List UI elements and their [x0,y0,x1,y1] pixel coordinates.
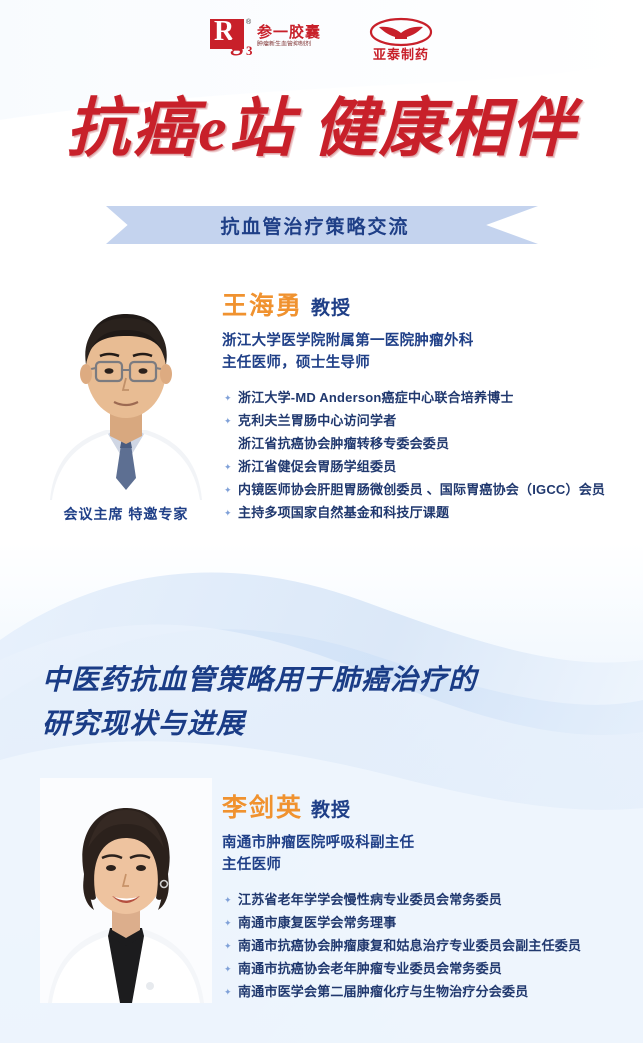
bullet-star-icon: ✦ [224,395,230,401]
bullet-star-icon: ✦ [224,989,230,995]
list-item: ✦浙江大学-MD Anderson癌症中心联合培养博士 [222,386,637,409]
list-item: ✦南通市抗癌协会老年肿瘤专业委员会常务委员 [222,957,637,980]
list-item: ✦江苏省老年学学会慢性病专业委员会常务委员 [222,888,637,911]
bullet-star-icon: ✦ [224,464,230,470]
credential-text: 主持多项国家自然基金和科技厅课题 [238,505,449,520]
speaker-2-affiliation-line-2: 主任医师 [222,854,637,876]
list-item: ✦南通市医学会第二届肿瘤化疗与生物治疗分会委员 [222,980,637,1003]
credential-text: 南通市抗癌协会老年肿瘤专业委员会常务委员 [238,961,502,976]
bullet-star-icon: ✦ [224,487,230,493]
speaker-2-name: 李剑英 [222,788,303,824]
speaker-2-credentials: ✦江苏省老年学学会慢性病专业委员会常务委员 ✦南通市康复医学会常务理事 ✦南通市… [222,888,637,1003]
poster-main-title: 抗癌e站 健康相伴 [0,88,643,170]
credential-text: 浙江省抗癌协会肿瘤转移专委会委员 [238,436,449,451]
speaker-2-info: 李剑英 教授 南通市肿瘤医院呼吸科副主任 主任医师 ✦江苏省老年学学会慢性病专业… [222,788,637,1019]
speaker-1-role-label: 会议主席 特邀专家 [40,504,212,524]
speaker-block-2: 李剑英 教授 南通市肿瘤医院呼吸科副主任 主任医师 ✦江苏省老年学学会慢性病专业… [0,778,643,1018]
speaker-1-academic-title: 教授 [311,293,351,320]
credential-text: 南通市医学会第二届肿瘤化疗与生物治疗分会委员 [238,984,528,999]
list-item: ✦内镜医师协会肝胆胃肠微创委员 、国际胃癌协会（IGCC）会员 [222,478,637,501]
list-item: ✦南通市抗癌协会肿瘤康复和姑息治疗专业委员会副主任委员 [222,934,637,957]
speaker-2-portrait [40,778,212,1003]
rg3-letter-g: g [230,29,243,55]
speaker-block-1: 会议主席 特邀专家 王海勇 教授 浙江大学医学院附属第一医院肿瘤外科 主任医师，… [0,278,643,538]
rg3-subscript-3: 3 [246,43,253,59]
speaker-1-portrait [40,278,212,500]
list-item: ✦克利夫兰胃肠中心访问学者 [222,409,637,432]
list-item: 浙江省抗癌协会肿瘤转移专委会委员 [222,432,637,455]
bullet-star-icon: ✦ [224,418,230,424]
logo-canyi-capsule: R g 3 ® 参一胶囊 肿瘤新生血管抑制剂 [210,19,321,59]
list-item: ✦主持多项国家自然基金和科技厅课题 [222,501,637,524]
bullet-star-icon: ✦ [224,897,230,903]
speaker-2-affiliation-line-1: 南通市肿瘤医院呼吸科副主任 [222,832,637,854]
section-heading-line-1: 中医药抗血管策略用于肺癌治疗的 [42,658,602,702]
bullet-star-icon: ✦ [224,920,230,926]
speaker-2-name-line: 李剑英 教授 [222,788,637,824]
poster-canvas: R g 3 ® 参一胶囊 肿瘤新生血管抑制剂 亚泰制药 抗癌e站 健康相伴 抗血… [0,0,643,1043]
female-doctor-portrait-illustration [40,778,212,1003]
speaker-1-name-line: 王海勇 教授 [222,286,637,322]
canyi-brand-name: 参一胶囊 [257,25,321,41]
speaker-1-info: 王海勇 教授 浙江大学医学院附属第一医院肿瘤外科 主任医师，硕士生导师 ✦浙江大… [222,286,637,540]
credential-text: 南通市抗癌协会肿瘤康复和姑息治疗专业委员会副主任委员 [238,938,581,953]
list-item: ✦南通市康复医学会常务理事 [222,911,637,934]
credential-text: 浙江省健促会胃肠学组委员 [238,459,396,474]
registered-trademark-icon: ® [246,19,251,26]
canyi-tagline: 肿瘤新生血管抑制剂 [257,41,321,49]
credential-text: 江苏省老年学学会慢性病专业委员会常务委员 [238,892,502,907]
section-heading: 中医药抗血管策略用于肺癌治疗的 研究现状与进展 [42,658,602,746]
logo-yatai-pharma: 亚泰制药 [369,17,433,62]
canyi-brand-text: 参一胶囊 肿瘤新生血管抑制剂 [257,19,321,50]
logo-bar: R g 3 ® 参一胶囊 肿瘤新生血管抑制剂 亚泰制药 [0,10,643,68]
credential-text: 浙江大学-MD Anderson癌症中心联合培养博士 [238,390,514,405]
bullet-star-icon: ✦ [224,943,230,949]
speaker-1-name: 王海勇 [222,286,303,322]
speaker-1-photo-area: 会议主席 特邀专家 [40,278,212,524]
speaker-1-affiliation-line-2: 主任医师，硕士生导师 [222,352,637,374]
male-doctor-portrait-illustration [40,278,212,500]
speaker-1-affiliation-line-1: 浙江大学医学院附属第一医院肿瘤外科 [222,330,637,352]
section-heading-line-2: 研究现状与进展 [42,702,602,746]
subtitle-ribbon-text: 抗血管治疗策略交流 [220,212,409,239]
speaker-1-affiliation: 浙江大学医学院附属第一医院肿瘤外科 主任医师，硕士生导师 [222,330,637,374]
yatai-brand-name: 亚泰制药 [373,48,429,62]
bull-head-emblem-icon [369,17,433,47]
speaker-2-affiliation: 南通市肿瘤医院呼吸科副主任 主任医师 [222,832,637,876]
credential-text: 内镜医师协会肝胆胃肠微创委员 、国际胃癌协会（IGCC）会员 [238,482,605,497]
speaker-2-academic-title: 教授 [311,795,351,822]
rg3-logo-mark: R g 3 ® [210,19,254,59]
bullet-star-icon: ✦ [224,966,230,972]
list-item: ✦浙江省健促会胃肠学组委员 [222,455,637,478]
subtitle-ribbon: 抗血管治疗策略交流 [106,206,538,244]
speaker-2-photo-area [40,778,212,1007]
credential-text: 南通市康复医学会常务理事 [238,915,396,930]
credential-text: 克利夫兰胃肠中心访问学者 [238,413,396,428]
bullet-star-icon: ✦ [224,510,230,516]
speaker-1-credentials: ✦浙江大学-MD Anderson癌症中心联合培养博士 ✦克利夫兰胃肠中心访问学… [222,386,637,524]
